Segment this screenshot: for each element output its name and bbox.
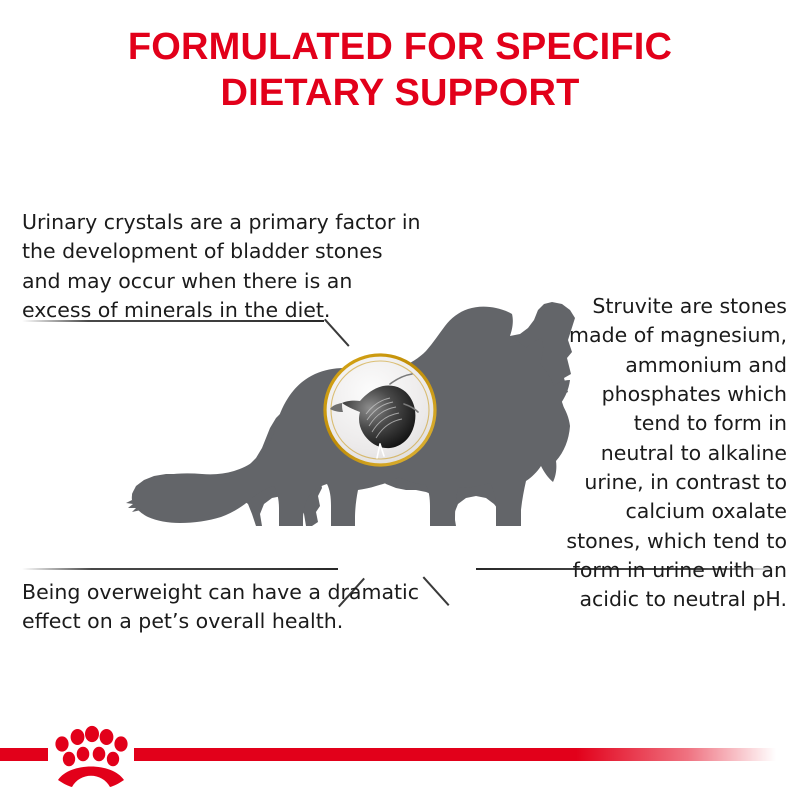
callout-overweight-text: Being overweight can have a dramatic eff… (22, 580, 419, 633)
magnifier-lens (318, 348, 442, 472)
royal-canin-crown-logo (48, 714, 134, 788)
page-title-line-1: FORMULATED FOR SPECIFIC (60, 24, 740, 70)
page-title: FORMULATED FOR SPECIFIC DIETARY SUPPORT (60, 24, 740, 117)
infographic-canvas: FORMULATED FOR SPECIFIC DIETARY SUPPORT (0, 0, 800, 800)
brand-accent-bar-left (0, 748, 48, 761)
callout-overweight: Being overweight can have a dramatic eff… (22, 578, 422, 637)
leader-line-struvite-diagonal (423, 576, 450, 606)
page-title-line-2: DIETARY SUPPORT (60, 70, 740, 116)
